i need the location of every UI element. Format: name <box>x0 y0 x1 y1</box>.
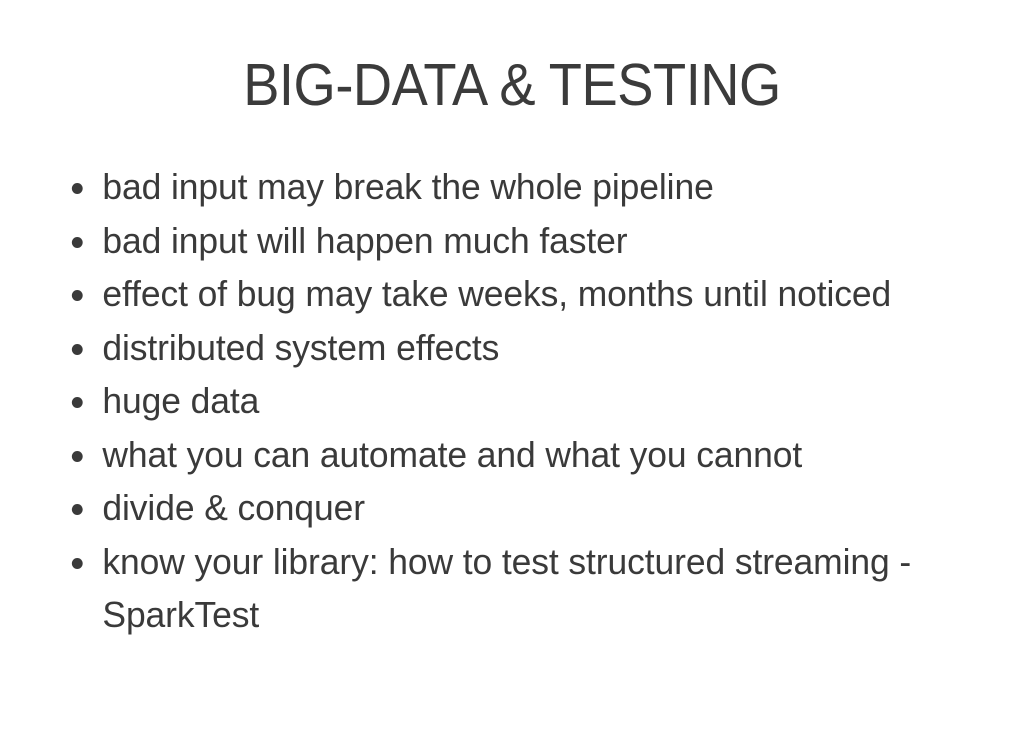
list-item-label: what you can automate and what you canno… <box>102 428 978 482</box>
bullet-list: bad input may break the whole pipeline b… <box>62 160 992 642</box>
list-item-label: effect of bug may take weeks, months unt… <box>102 267 978 321</box>
list-item-label: bad input will happen much faster <box>102 214 978 268</box>
list-item-label: distributed system effects <box>102 321 978 375</box>
list-item-label: bad input may break the whole pipeline <box>102 160 978 214</box>
list-item-label: divide & conquer <box>102 481 978 535</box>
list-item-label: huge data <box>102 374 978 428</box>
list-item: divide & conquer <box>62 481 978 535</box>
list-item: know your library: how to test structure… <box>62 535 978 642</box>
list-item: distributed system effects <box>62 321 978 375</box>
page-title: BIG-DATA & TESTING <box>41 56 983 115</box>
list-item: huge data <box>62 374 978 428</box>
list-item: bad input will happen much faster <box>62 214 978 268</box>
list-item: what you can automate and what you canno… <box>62 428 978 482</box>
presentation-slide: BIG-DATA & TESTING bad input may break t… <box>0 0 1024 747</box>
list-item: effect of bug may take weeks, months unt… <box>62 267 978 321</box>
list-item-label: know your library: how to test structure… <box>102 535 978 642</box>
list-item: bad input may break the whole pipeline <box>62 160 978 214</box>
